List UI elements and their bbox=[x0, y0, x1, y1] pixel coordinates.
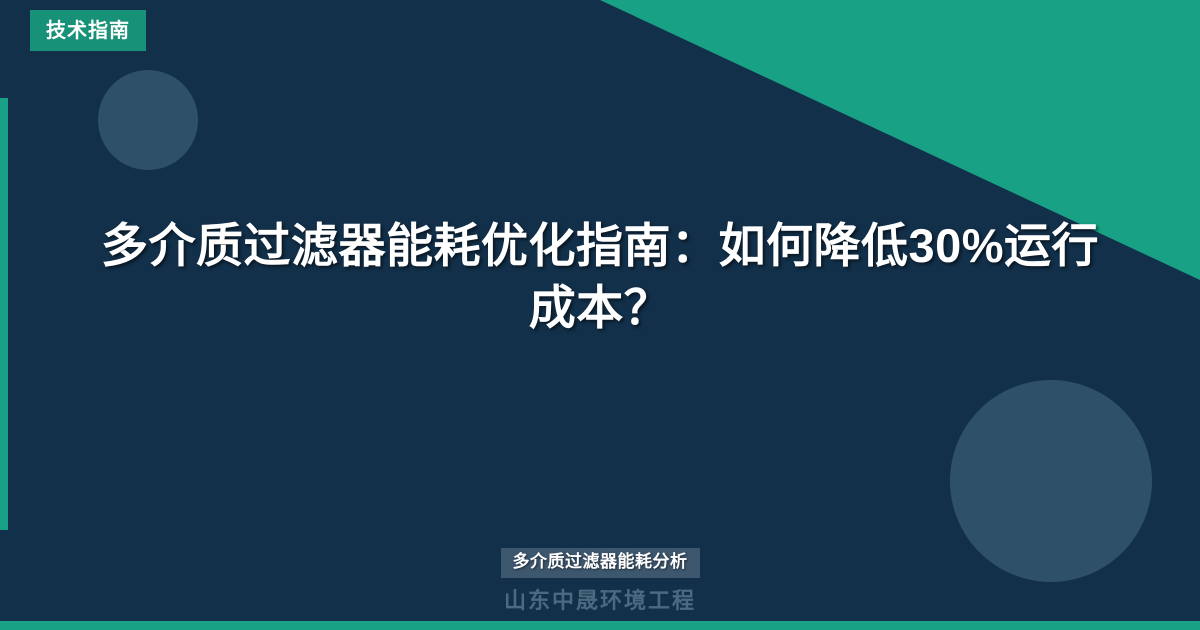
banner-canvas: 技术指南 多介质过滤器能耗优化指南：如何降低30%运行成本？ 多介质过滤器能耗分… bbox=[0, 0, 1200, 630]
accent-bar-bottom bbox=[0, 621, 1200, 630]
footer-group: 多介质过滤器能耗分析 山东中晟环境工程 bbox=[0, 548, 1200, 614]
category-badge-label: 技术指南 bbox=[46, 21, 130, 41]
decor-circle-top-left bbox=[98, 70, 198, 170]
accent-bar-left bbox=[0, 98, 8, 530]
headline-container: 多介质过滤器能耗优化指南：如何降低30%运行成本？ bbox=[100, 215, 1100, 339]
category-badge[interactable]: 技术指南 bbox=[30, 10, 146, 51]
page-title: 多介质过滤器能耗优化指南：如何降低30%运行成本？ bbox=[100, 215, 1100, 339]
footer-caption: 多介质过滤器能耗分析 bbox=[501, 548, 700, 578]
footer-brand: 山东中晟环境工程 bbox=[0, 588, 1200, 614]
